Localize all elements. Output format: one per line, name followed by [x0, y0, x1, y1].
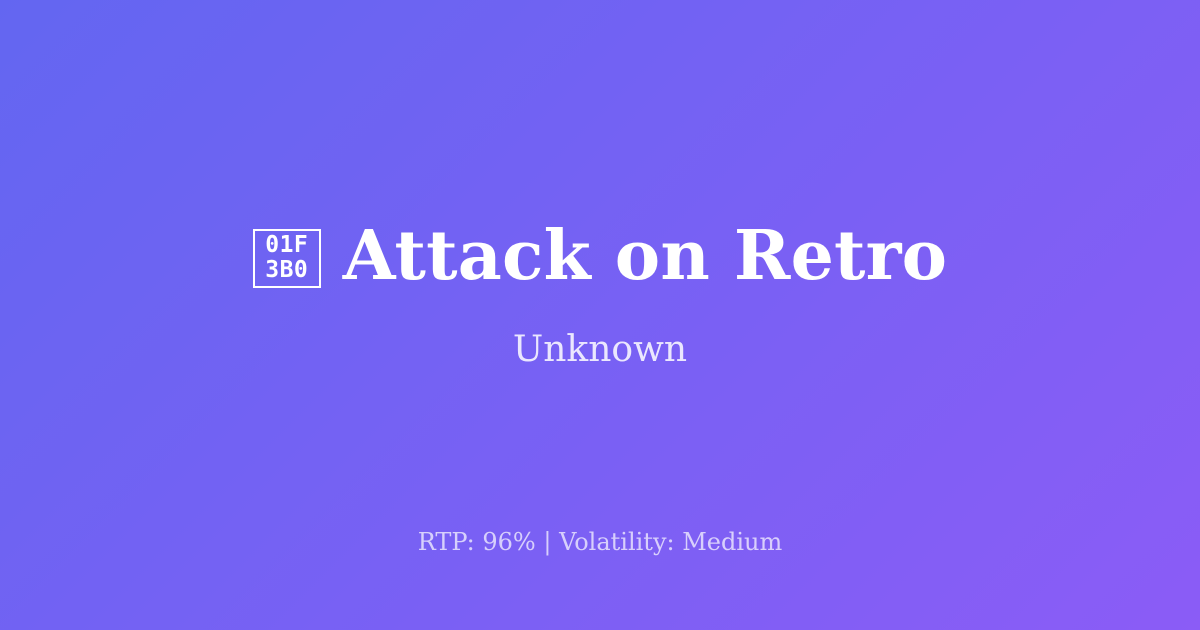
og-preview-card: 01F 3B0 Attack on Retro Unknown RTP: 96%…	[0, 0, 1200, 630]
slot-machine-icon: 01F 3B0	[253, 229, 321, 288]
page-title: 01F 3B0 Attack on Retro	[253, 221, 947, 292]
slot-machine-icon-codepoint-line2: 3B0	[265, 258, 308, 283]
page-title-text: Attack on Retro	[343, 221, 947, 292]
game-meta-line: RTP: 96% | Volatility: Medium	[0, 528, 1200, 557]
slot-machine-icon-codepoint-line1: 01F	[265, 233, 308, 258]
provider-subtitle: Unknown	[513, 328, 687, 371]
